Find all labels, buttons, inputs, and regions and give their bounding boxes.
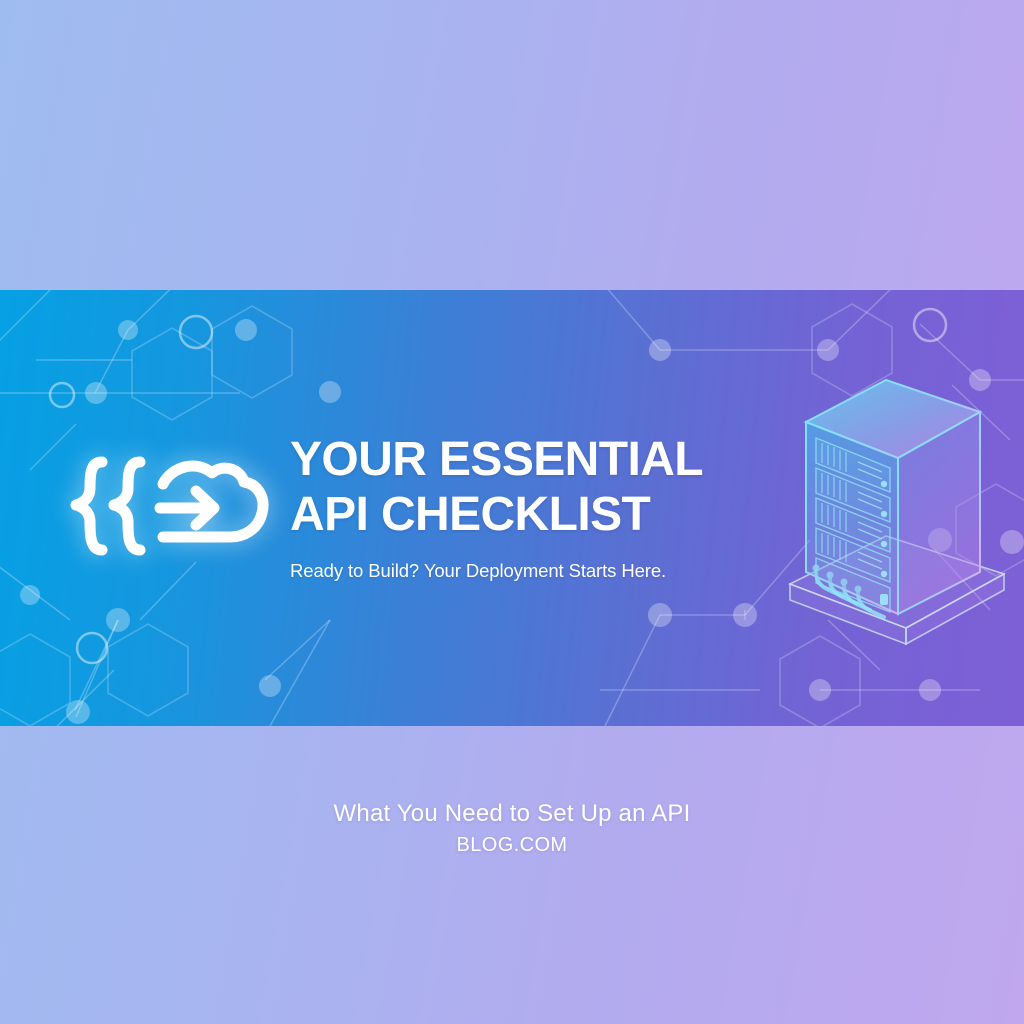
api-cloud-braces-icon: [62, 440, 274, 580]
footer-title: What You Need to Set Up an API: [0, 800, 1024, 828]
isometric-server-rack-icon: [768, 376, 1024, 668]
headline-line-1: YOUR ESSENTIAL: [290, 432, 760, 487]
headline-line-2: API CHECKLIST: [290, 487, 760, 542]
hero-text-block: YOUR ESSENTIAL API CHECKLIST Ready to Bu…: [290, 432, 760, 582]
footer-domain: BLOG.COM: [0, 834, 1024, 857]
footer-block: What You Need to Set Up an API BLOG.COM: [0, 800, 1024, 857]
page-root: Conclusion YOUR ESSENTIAL API CHECKLIST …: [0, 0, 1024, 1024]
hero-subtitle: Ready to Build? Your Deployment Starts H…: [290, 560, 760, 582]
